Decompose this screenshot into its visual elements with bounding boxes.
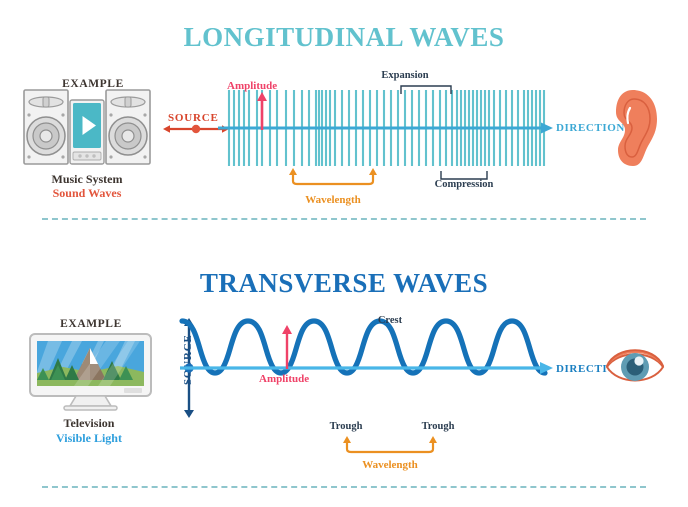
section-divider-1 bbox=[42, 218, 646, 220]
transverse-wavelength-bracket bbox=[342, 436, 438, 454]
section-divider-2 bbox=[42, 486, 646, 488]
ear-icon bbox=[606, 88, 660, 168]
longitudinal-waves-panel: LONGITUDINAL WAVES EXAMPLE Musi bbox=[0, 0, 688, 255]
longitudinal-wavelength-label: Wavelength bbox=[283, 194, 383, 206]
music-system-icon bbox=[22, 88, 152, 168]
trough-label-right: Trough bbox=[388, 421, 488, 432]
transverse-example-label: EXAMPLE bbox=[26, 318, 156, 330]
compression-label: Compression bbox=[414, 179, 514, 190]
television-icon bbox=[28, 332, 153, 412]
longitudinal-amplitude-label: Amplitude bbox=[227, 80, 277, 92]
transverse-amplitude-label: Amplitude bbox=[259, 373, 309, 385]
trough-label-left: Trough bbox=[296, 421, 396, 432]
transverse-direction-axis bbox=[180, 361, 553, 375]
television-caption: Television bbox=[14, 416, 164, 431]
transverse-wavelength-label: Wavelength bbox=[340, 459, 440, 471]
sound-waves-caption: Sound Waves bbox=[12, 186, 162, 201]
longitudinal-section-title: LONGITUDINAL WAVES bbox=[0, 22, 688, 53]
transverse-section-title: TRANSVERSE WAVES bbox=[0, 268, 688, 299]
visible-light-caption: Visible Light bbox=[14, 431, 164, 446]
eye-icon bbox=[604, 340, 666, 392]
transverse-amplitude-arrow-icon bbox=[280, 325, 294, 369]
expansion-label: Expansion bbox=[355, 70, 455, 81]
transverse-waves-panel: TRANSVERSE WAVES EXAMPLE bbox=[0, 255, 688, 507]
music-system-caption: Music System bbox=[12, 172, 162, 187]
expansion-bracket bbox=[400, 85, 452, 95]
longitudinal-wavelength-bracket bbox=[288, 168, 378, 186]
crest-label: Crest bbox=[340, 315, 440, 326]
amplitude-arrow-icon bbox=[255, 92, 269, 130]
